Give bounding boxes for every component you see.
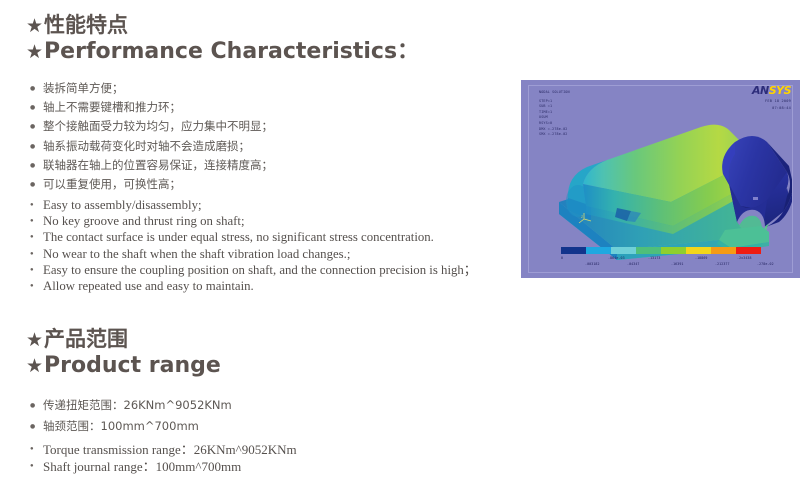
legend-swatch-4 — [661, 247, 686, 254]
performance-heading-cn-text: 性能特点 — [44, 13, 128, 37]
performance-bullets-en: Easy to assembly/disassembly; No key gro… — [30, 197, 477, 294]
ansys-logo: ANSYS FEB 18 2009 07:08:44 — [752, 85, 791, 112]
list-item: The contact surface is under equal stres… — [30, 229, 477, 245]
performance-heading-block: ★性能特点 ★Performance Characteristics： — [26, 12, 419, 66]
legend-label: .13173 — [648, 256, 661, 260]
list-item: 轴系振动载荷变化时对轴不会造成磨损； — [30, 137, 273, 156]
legend-swatch-1 — [586, 247, 611, 254]
legend-label: .16391 — [671, 262, 684, 266]
list-item: Allow repeated use and easy to maintain. — [30, 278, 477, 294]
list-item: Shaft journal range：100mm^700mm — [30, 458, 297, 475]
list-item-text: Shaft journal range：100mm^700mm — [43, 459, 241, 474]
list-item: No key groove and thrust ring on shaft; — [30, 213, 477, 229]
ansys-simulation-figure: NODAL SOLUTION STEP=1 SUB =1 TIME=1 USUM… — [521, 80, 800, 278]
ansys-logo-prefix: AN — [752, 84, 769, 97]
ansys-logo-date-line-1: FEB 18 2009 — [752, 99, 791, 104]
legend-label: .2x3438 — [737, 256, 752, 260]
list-item: No wear to the shaft when the shaft vibr… — [30, 246, 477, 262]
list-item-text: 联轴器在轴上的位置容易保证，连接精度高； — [43, 158, 273, 172]
ansys-logo-date-line-2: 07:08:44 — [752, 106, 791, 111]
list-item: 可以重复使用，可换性高； — [30, 175, 273, 194]
product-range-heading-en-text: Product range — [44, 353, 221, 378]
legend-label: .04347 — [627, 262, 640, 266]
list-item-text: 轴系振动载荷变化时对轴不会造成磨损； — [43, 139, 250, 153]
list-item-text: 轴颈范围：100mm^700mm — [43, 419, 199, 433]
list-item-text: The contact surface is under equal stres… — [43, 230, 434, 244]
legend-label: .212377 — [715, 262, 730, 266]
legend-label: .003182 — [585, 262, 600, 266]
product-range-heading-cn: ★产品范围 — [26, 326, 221, 352]
list-item: 装拆简单方便； — [30, 79, 273, 98]
star-icon: ★ — [26, 329, 43, 351]
list-item: Easy to assembly/disassembly; — [30, 197, 477, 213]
list-item-text: 可以重复使用，可换性高； — [43, 177, 181, 191]
list-item: 联轴器在轴上的位置容易保证，连接精度高； — [30, 156, 273, 175]
performance-heading-en-text: Performance Characteristics： — [44, 39, 419, 64]
star-icon: ★ — [26, 41, 43, 63]
list-item-text: 轴上不需要键槽和推力环； — [43, 100, 181, 114]
product-range-bullets-cn: 传递扭矩范围：26KNm^9052KNm 轴颈范围：100mm^700mm — [30, 395, 232, 437]
star-icon: ★ — [26, 15, 43, 37]
legend-swatch-5 — [686, 247, 711, 254]
list-item-text: 整个接触面受力较为均匀，应力集中不明显； — [43, 119, 273, 133]
list-item-text: No key groove and thrust ring on shaft; — [43, 214, 245, 228]
list-item: Easy to ensure the coupling position on … — [30, 262, 477, 278]
legend-color-bar — [561, 247, 761, 254]
ansys-logo-suffix: SYS — [769, 84, 791, 97]
list-item-text: 装拆简单方便； — [43, 81, 124, 95]
ansys-info-block: NODAL SOLUTION STEP=1 SUB =1 TIME=1 USUM… — [539, 90, 570, 138]
list-item: 整个接触面受力较为均匀，应力集中不明显； — [30, 117, 273, 136]
product-range-heading-en: ★Product range — [26, 352, 221, 380]
legend-label: .18869 — [695, 256, 708, 260]
list-item: 轴颈范围：100mm^700mm — [30, 416, 232, 437]
legend-label: .278e-02 — [757, 262, 774, 266]
stress-color-legend: 0 .864e-03 .13173 .18869 .2x3438 .003182… — [561, 247, 761, 268]
legend-label: .864e-03 — [608, 256, 625, 260]
list-item: Torque transmission range：26KNm^9052KNm — [30, 441, 297, 458]
star-icon: ★ — [26, 355, 43, 377]
product-range-heading-block: ★产品范围 ★Product range — [26, 326, 221, 380]
legend-swatch-2 — [611, 247, 636, 254]
list-item-text: Easy to ensure the coupling position on … — [43, 263, 477, 277]
list-item-text: No wear to the shaft when the shaft vibr… — [43, 247, 350, 261]
list-item-text: Easy to assembly/disassembly; — [43, 198, 202, 212]
list-item-text: 传递扭矩范围：26KNm^9052KNm — [43, 398, 232, 412]
list-item: 轴上不需要键槽和推力环； — [30, 98, 273, 117]
legend-label: 0 — [561, 256, 563, 260]
performance-heading-en: ★Performance Characteristics： — [26, 38, 419, 66]
legend-swatch-7 — [736, 247, 761, 254]
ansys-info-line: SMX =.278e-02 — [539, 132, 570, 138]
product-range-bullets-en: Torque transmission range：26KNm^9052KNm … — [30, 441, 297, 475]
legend-swatch-6 — [711, 247, 736, 254]
legend-labels-bottom: .003182 .04347 .16391 .212377 .278e-02 — [561, 262, 761, 268]
ansys-info-line: NODAL SOLUTION — [539, 90, 570, 96]
ansys-logo-wordmark: ANSYS — [752, 85, 791, 97]
axis-triad-label: Z — [581, 215, 583, 219]
performance-bullets-cn: 装拆简单方便； 轴上不需要键槽和推力环； 整个接触面受力较为均匀，应力集中不明显… — [30, 79, 273, 194]
list-item-text: Allow repeated use and easy to maintain. — [43, 279, 254, 293]
list-item-text: Torque transmission range：26KNm^9052KNm — [43, 442, 297, 457]
list-item: 传递扭矩范围：26KNm^9052KNm — [30, 395, 232, 416]
legend-swatch-3 — [636, 247, 661, 254]
product-range-heading-cn-text: 产品范围 — [44, 327, 128, 351]
performance-heading-cn: ★性能特点 — [26, 12, 419, 38]
legend-swatch-0 — [561, 247, 586, 254]
